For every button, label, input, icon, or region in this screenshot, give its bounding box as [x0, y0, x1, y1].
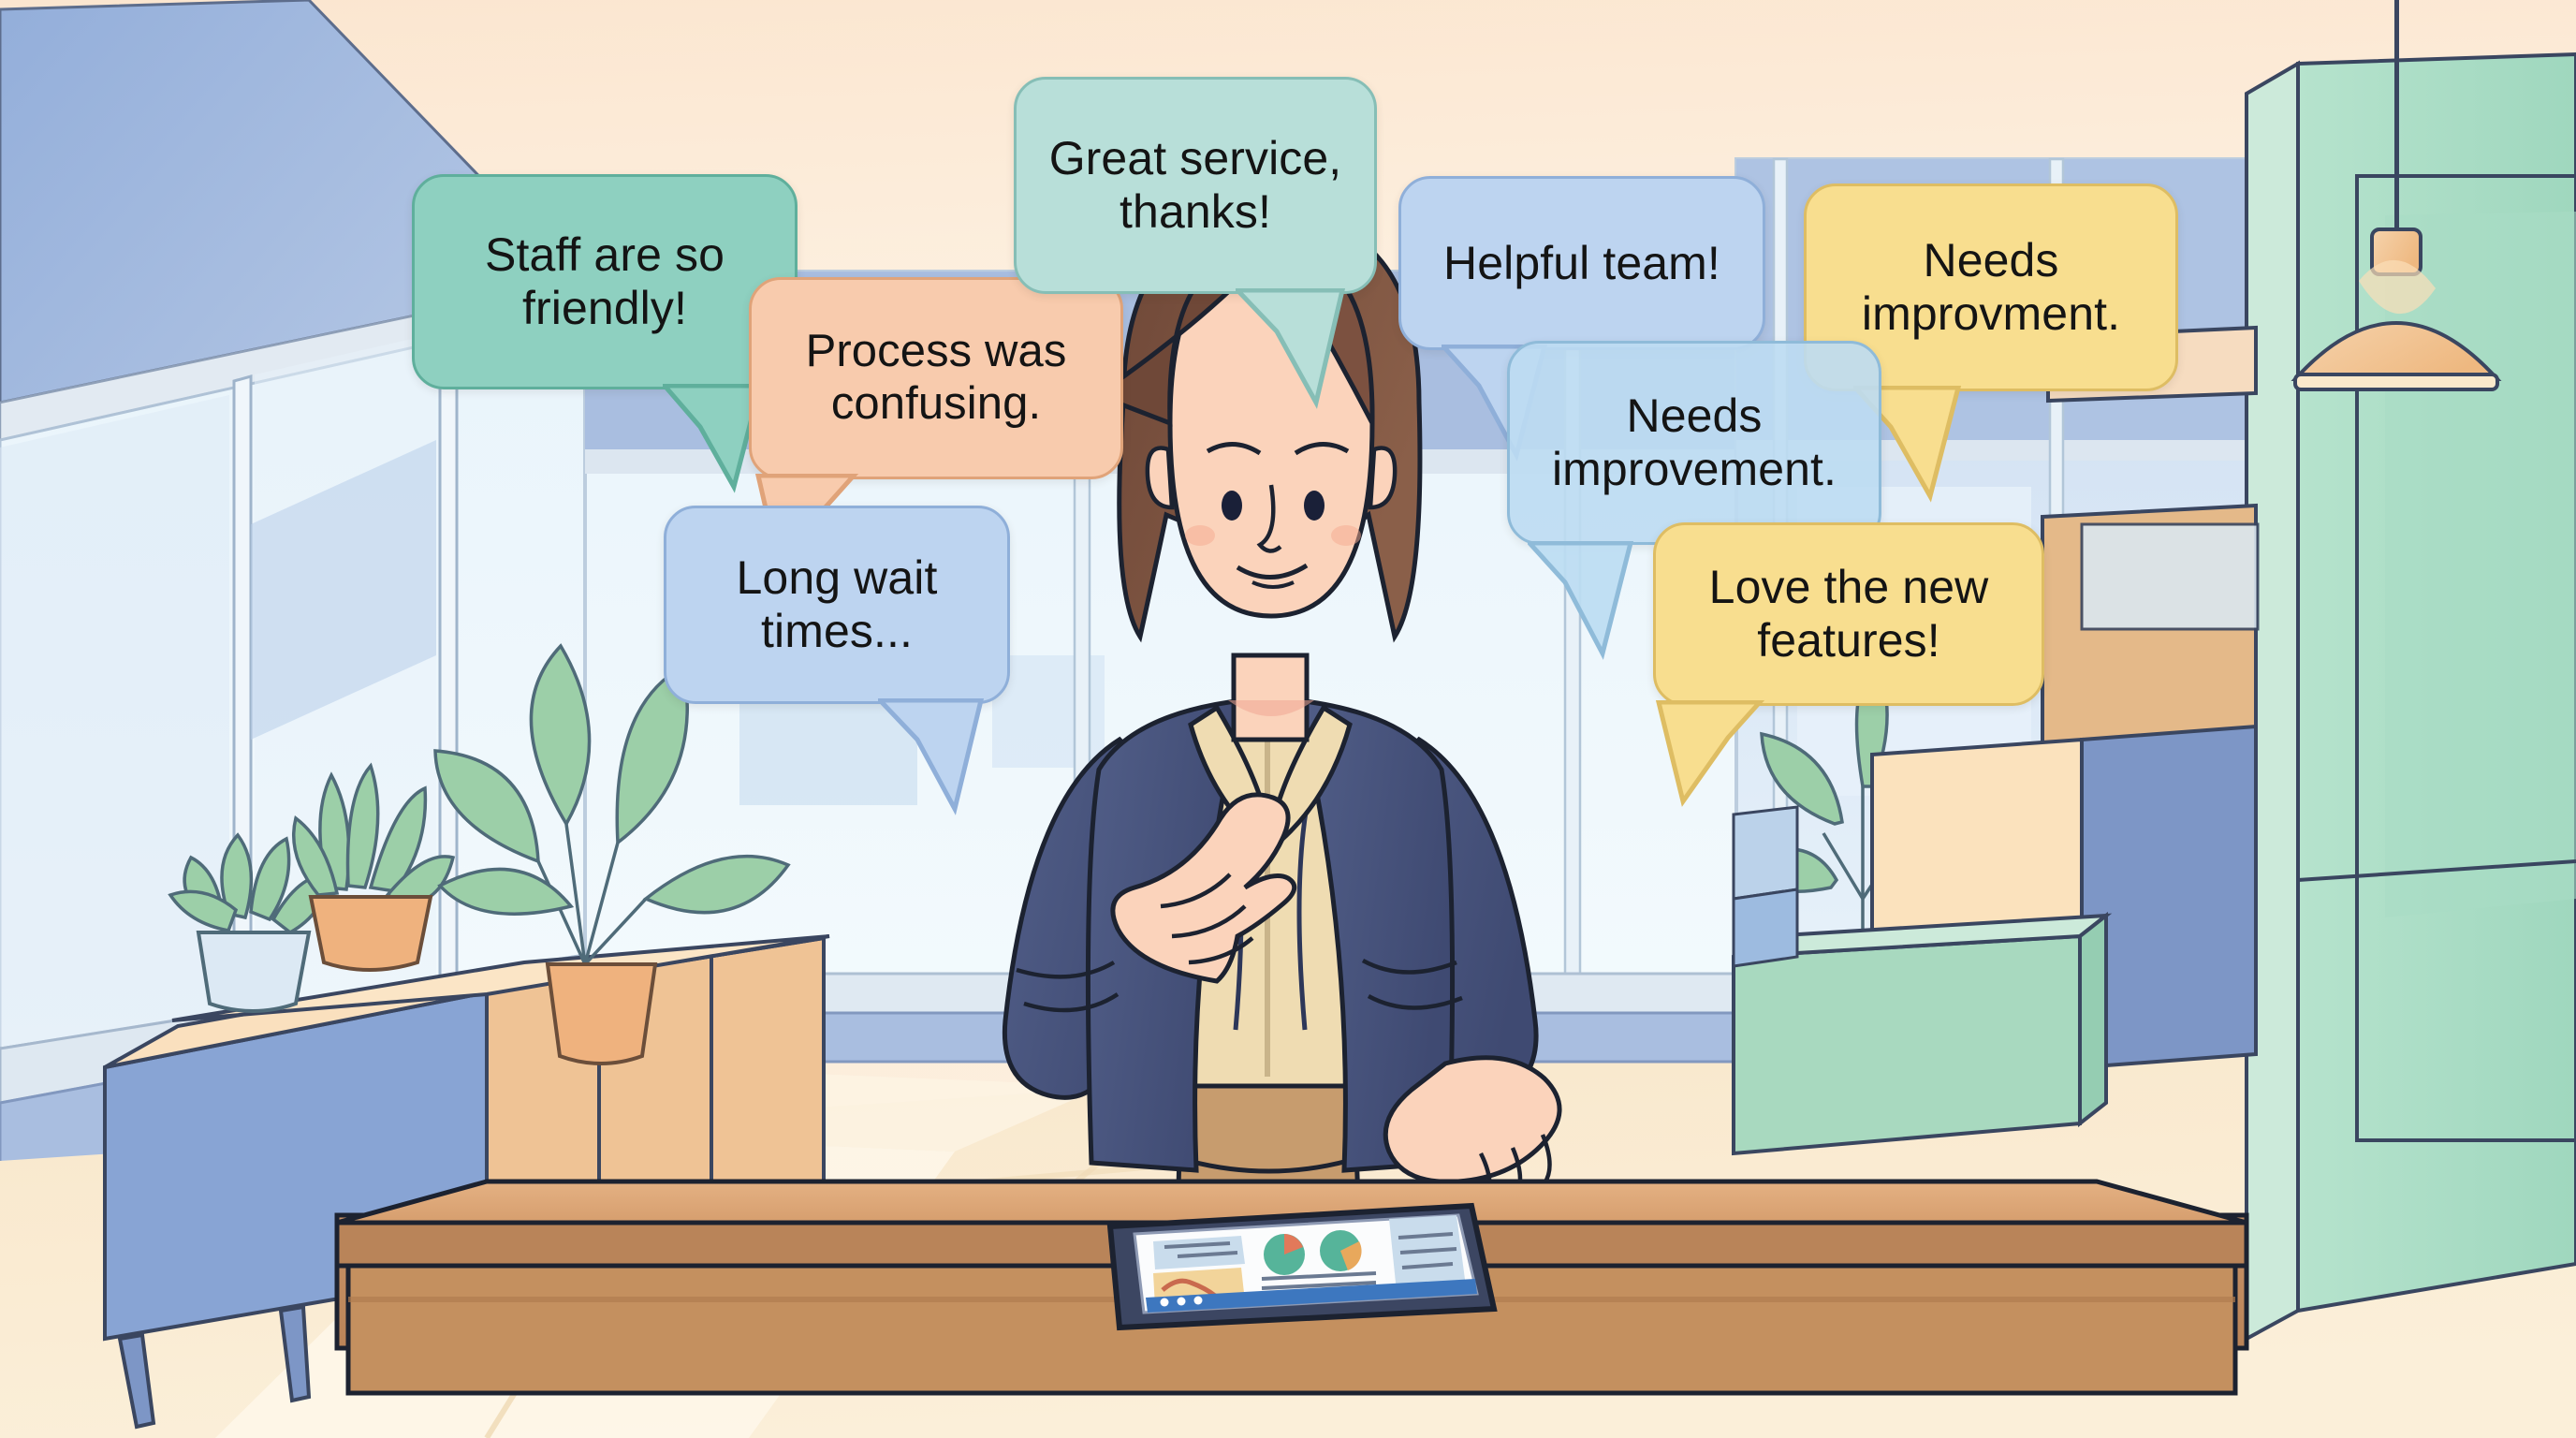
illustration-canvas: Staff are so friendly! Process was confu… [0, 0, 2576, 1438]
bubble-long-wait[interactable]: Long wait times... [664, 506, 1010, 704]
bubble-staff-friendly[interactable]: Staff are so friendly! [412, 174, 798, 389]
pie-chart-1 [1264, 1234, 1305, 1275]
bubble-text: Needs improvment. [1831, 234, 2151, 341]
bubble-great-service[interactable]: Great service, thanks! [1014, 77, 1377, 294]
bubble-text: Staff are so friendly! [439, 228, 770, 335]
tablet-device [1110, 1206, 1494, 1328]
bubble-text: Process was confusing. [776, 326, 1096, 431]
bubble-tail-great-service [1236, 288, 1357, 410]
bubble-text: Great service, thanks! [1041, 132, 1350, 239]
bubble-needs-improvement[interactable]: Needs improvement. [1507, 341, 1881, 545]
bubble-helpful-team[interactable]: Helpful team! [1398, 176, 1765, 350]
bubble-love-new-features[interactable]: Love the new features! [1653, 522, 2044, 706]
bubble-tail-long-wait [878, 698, 1000, 820]
bubble-text: Helpful team! [1443, 237, 1720, 290]
bubble-tail-love-new-features [1655, 700, 1777, 822]
bubble-process-confusing[interactable]: Process was confusing. [749, 277, 1123, 479]
bubble-text: Needs improvement. [1534, 389, 1854, 496]
bubble-text: Love the new features! [1680, 561, 2017, 668]
bubble-tail-needs-improvement [1528, 541, 1649, 663]
glass-shelf [1734, 807, 1797, 966]
bubble-text: Long wait times... [691, 551, 983, 658]
